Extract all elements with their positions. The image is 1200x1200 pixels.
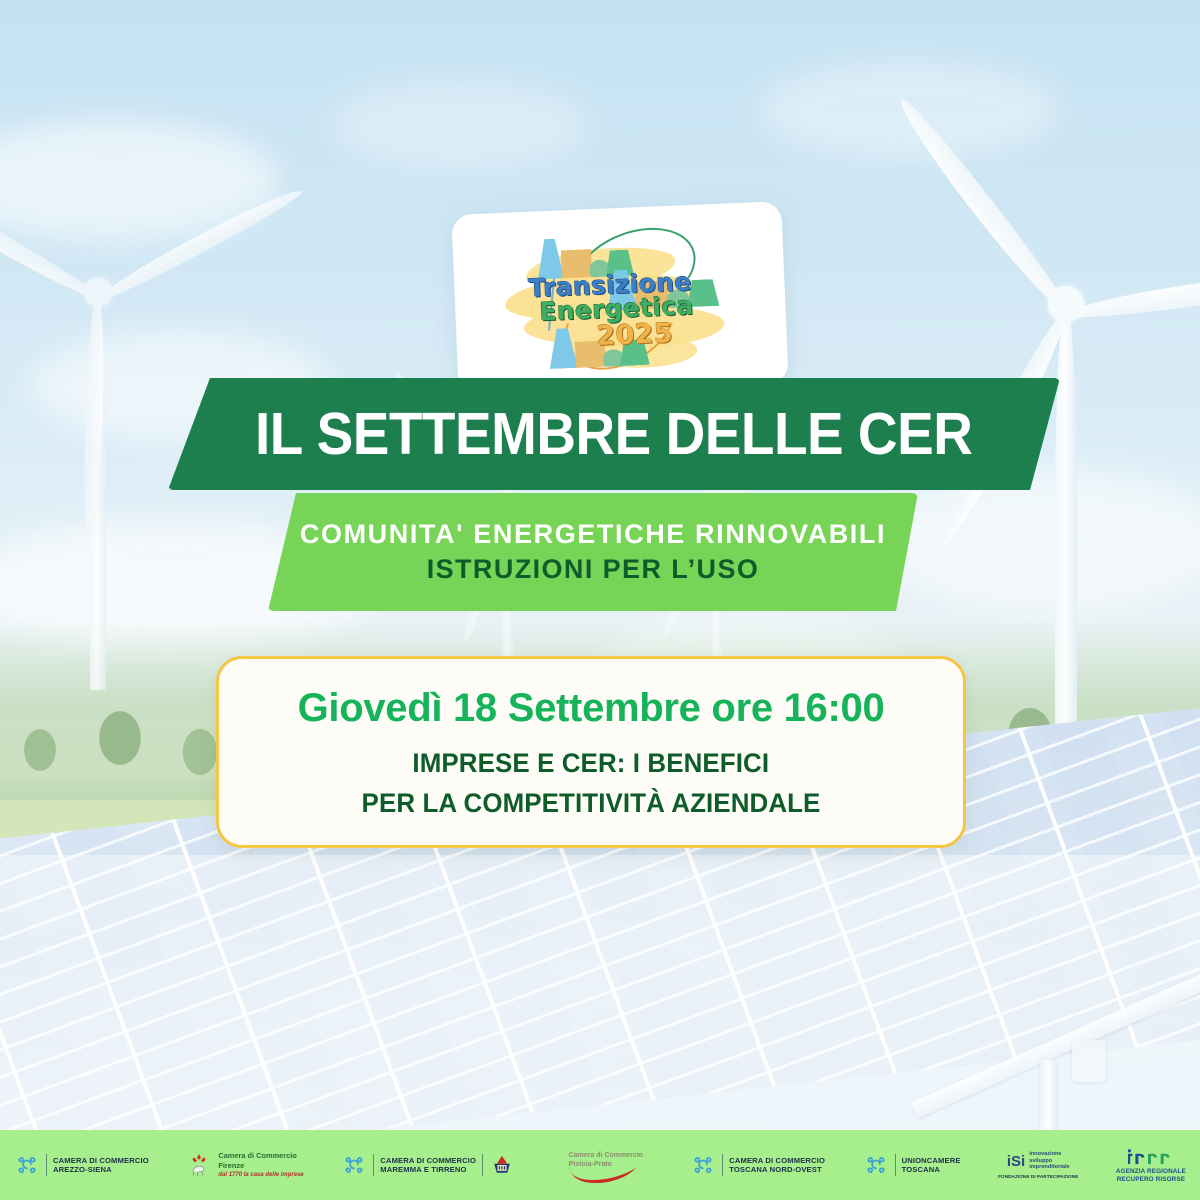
logo-text-line-1: innovazione [1029, 1151, 1069, 1158]
cloud [330, 80, 590, 170]
logo-text-line-2: sviluppo [1029, 1158, 1069, 1165]
wind-turbine-icon [0, 40, 240, 680]
camera-commercio-swirl-icon [690, 1152, 716, 1178]
sponsor-logo-bar: CAMERA DI COMMERCIO AREZZO-SIENA Camera … [0, 1130, 1200, 1200]
logo-text-line-1: UNIONCAMERE [902, 1156, 961, 1165]
logo-firenze: Camera di Commercio Firenze dal 1770 la … [186, 1151, 303, 1179]
subtitle-line-1: COMUNITA' ENERGETICHE RINNOVABILI [300, 519, 886, 550]
logo-text-line-2: TOSCANA NORD-OVEST [729, 1165, 825, 1174]
logo-tagline: FONDAZIONE DI PARTECIPAZIONE [998, 1174, 1078, 1179]
logo-text-line-1: AGENZIA REGIONALE [1116, 1168, 1186, 1176]
logo-text-line-1: CAMERA DI COMMERCIO [729, 1156, 825, 1165]
brand-year: 2025 [596, 318, 674, 352]
logo-text-line-2: Firenze [218, 1161, 303, 1171]
maremma-crest-icon [489, 1152, 515, 1178]
title-banner: IL SETTEMBRE DELLE CER [168, 378, 1060, 490]
page-title: IL SETTEMBRE DELLE CER [255, 405, 972, 464]
logo-tagline: dal 1770 la casa delle imprese [218, 1171, 303, 1179]
logo-pistoia-prato: Camera di Commercio Pistoia-Prato [553, 1148, 653, 1182]
firenze-lily-horse-icon [186, 1152, 212, 1178]
logo-text-line-2: MAREMMA E TIRRENO [380, 1165, 476, 1174]
isi-wordmark: iSi [1007, 1154, 1025, 1169]
logo-arrr: AGENZIA REGIONALE RECUPERO RISORSE [1116, 1146, 1186, 1184]
logo-text-line-2: AREZZO-SIENA [53, 1165, 149, 1174]
logo-text-line-1: CAMERA DI COMMERCIO [380, 1156, 476, 1165]
logo-maremma-tirreno: CAMERA DI COMMERCIO MAREMMA E TIRRENO [341, 1152, 515, 1178]
logo-text-line-1: CAMERA DI COMMERCIO [53, 1156, 149, 1165]
brand-logo-text: Transizione Energetica 2025 [451, 201, 788, 397]
event-datetime: Giovedì 18 Settembre ore 16:00 [298, 686, 885, 731]
arrr-mark-icon [1125, 1146, 1177, 1166]
camera-commercio-swirl-icon [341, 1152, 367, 1178]
solar-mount-clamp [1072, 1040, 1106, 1082]
logo-text-line-2: RECUPERO RISORSE [1116, 1176, 1186, 1184]
logo-text-line-3: imprenditoriale [1029, 1164, 1069, 1171]
logo-toscana-nord-ovest: CAMERA DI COMMERCIO TOSCANA NORD-OVEST [690, 1152, 825, 1178]
subtitle-banner: COMUNITA' ENERGETICHE RINNOVABILI ISTRUZ… [268, 493, 918, 611]
poster-canvas: Transizione Energetica 2025 IL SETTEMBRE… [0, 0, 1200, 1200]
logo-arezzo-siena: CAMERA DI COMMERCIO AREZZO-SIENA [14, 1152, 149, 1178]
logo-unioncamere-toscana: UNIONCAMERE TOSCANA [863, 1152, 961, 1178]
event-details-card: Giovedì 18 Settembre ore 16:00 IMPRESE E… [216, 656, 966, 848]
camera-commercio-swirl-icon [14, 1152, 40, 1178]
event-topic-line-2: PER LA COMPETITIVITÀ AZIENDALE [362, 788, 821, 819]
subtitle-line-2: ISTRUZIONI PER L’USO [427, 554, 760, 585]
event-topic-line-1: IMPRESE E CER: I BENEFICI [413, 748, 770, 779]
logo-text-line-1: Camera di Commercio [218, 1151, 303, 1161]
brand-logo-card: Transizione Energetica 2025 [451, 201, 788, 397]
logo-isi: iSi innovazione sviluppo imprenditoriale… [998, 1151, 1078, 1179]
logo-text-line-1: Camera di Commercio [569, 1151, 643, 1160]
camera-commercio-swirl-icon [863, 1152, 889, 1178]
pistoia-prato-swoosh-icon [553, 1160, 653, 1186]
logo-text-line-2: TOSCANA [902, 1165, 961, 1174]
